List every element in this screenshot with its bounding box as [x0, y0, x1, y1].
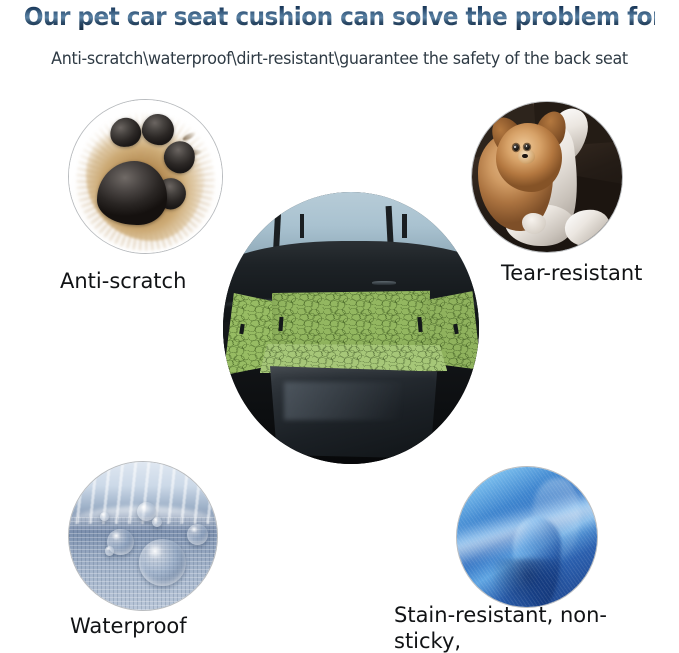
feature-image-stain-resistant [456, 466, 598, 608]
feature-image-tear-resistant [471, 101, 623, 253]
water-droplet [139, 539, 186, 586]
feature-label-tear-resistant: Tear-resistant [501, 261, 642, 286]
feature-label-stain-line1: Stain-resistant, non-sticky, [394, 603, 607, 653]
headrest-post [300, 214, 305, 238]
feature-label-anti-scratch: Anti-scratch [60, 269, 186, 294]
feature-image-anti-scratch [68, 99, 223, 254]
feature-label-stain-resistant: Stain-resistant, non-sticky, washable [394, 602, 674, 653]
dog-nose [522, 154, 527, 158]
page-title: Our pet car seat cushion can solve the p… [24, 2, 655, 32]
infographic-page: Our pet car seat cushion can solve the p… [0, 0, 679, 653]
apron-sheen [284, 382, 402, 420]
headrest-post [402, 214, 407, 238]
product-image-pet-car-seat-cushion [223, 192, 479, 464]
dog-paw [522, 213, 546, 234]
water-droplet [187, 524, 208, 545]
dog-eye [513, 144, 519, 151]
page-subtitle: Anti-scratch\waterproof\dirt-resistant\g… [12, 48, 667, 70]
water-droplet [105, 546, 115, 556]
door-handle [372, 281, 396, 285]
cushion-strap [278, 316, 283, 330]
satin-weave-texture [457, 467, 597, 607]
feature-image-waterproof [68, 461, 218, 611]
dog-head [496, 123, 562, 192]
feature-label-waterproof: Waterproof [70, 614, 187, 639]
